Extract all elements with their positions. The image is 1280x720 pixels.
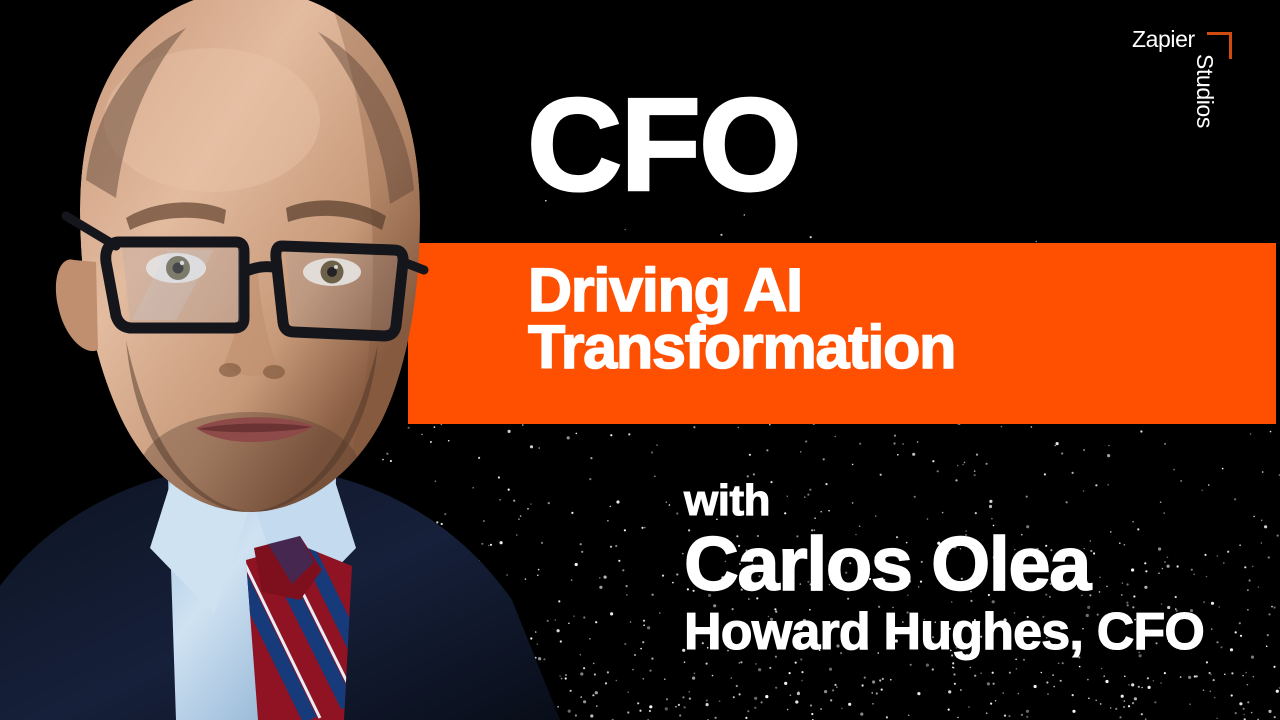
page-title: CFO <box>527 79 800 211</box>
speaker-credits: with Carlos Olea Howard Hughes, CFO <box>684 478 1204 659</box>
subtitle-line-1: Driving AI <box>528 262 955 319</box>
logo-wordmark-zapier: Zapier <box>1132 26 1195 53</box>
speaker-name: Carlos Olea <box>684 526 1204 604</box>
zapier-studios-logo: Zapier Studios <box>1132 22 1252 152</box>
subtitle-block: Driving AI Transformation <box>528 262 955 377</box>
credit-with-label: with <box>684 478 1204 524</box>
logo-wordmark-studios: Studios <box>1191 54 1218 128</box>
speaker-role: Howard Hughes, CFO <box>684 605 1204 660</box>
video-thumbnail: CFO Driving AI Transformation with Carlo… <box>0 0 1280 720</box>
subtitle-line-2: Transformation <box>528 319 955 376</box>
speaker-portrait <box>0 0 600 720</box>
